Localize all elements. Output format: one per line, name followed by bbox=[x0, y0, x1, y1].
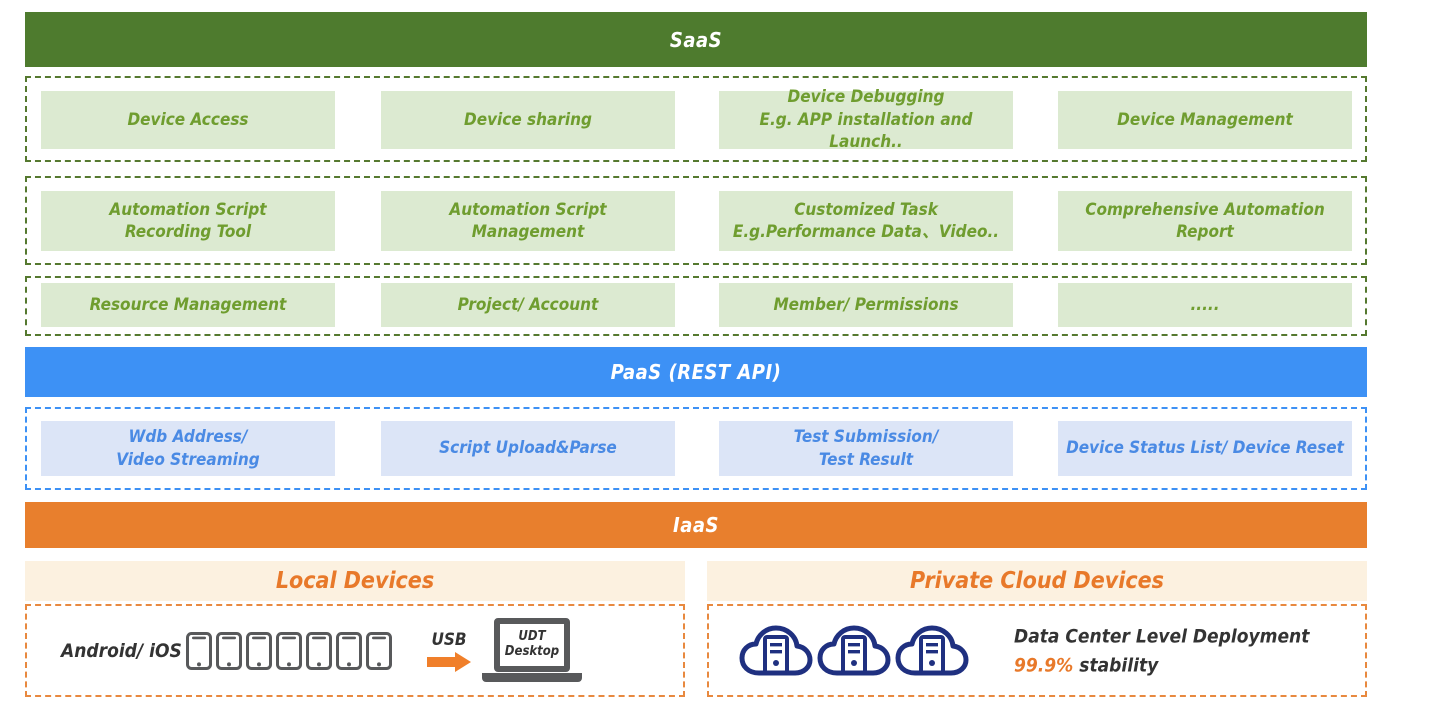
cell-label: Script Upload&Parse bbox=[439, 437, 617, 459]
saas-cell-project-account[interactable]: Project/ Account bbox=[381, 283, 675, 327]
cell-label: ..... bbox=[1190, 294, 1219, 316]
paas-cell-script-upload-parse[interactable]: Script Upload&Parse bbox=[381, 421, 675, 476]
architecture-diagram: SaaS Device Access Device sharing Device… bbox=[0, 0, 1430, 713]
cloud-server-icon-group bbox=[739, 623, 969, 679]
usb-label: USB bbox=[431, 630, 466, 650]
cell-label: Comprehensive AutomationReport bbox=[1085, 199, 1324, 244]
cell-label: Project/ Account bbox=[458, 294, 599, 316]
mobile-phone-icon bbox=[216, 632, 242, 670]
saas-cell-device-management[interactable]: Device Management bbox=[1058, 91, 1352, 149]
cell-label: Device Management bbox=[1117, 109, 1293, 131]
panel-title-label: Local Devices bbox=[276, 568, 434, 594]
saas-row-1-group: Device Access Device sharing Device Debu… bbox=[25, 76, 1367, 162]
cloud-server-icon bbox=[895, 623, 969, 679]
paas-cell-wdb-address-video-streaming[interactable]: Wdb Address/Video Streaming bbox=[41, 421, 335, 476]
band-saas-label: SaaS bbox=[670, 28, 722, 52]
band-iaas-label: IaaS bbox=[673, 513, 719, 537]
saas-cell-script-recording-tool[interactable]: Automation ScriptRecording Tool bbox=[41, 191, 335, 251]
laptop-screen: UDT Desktop bbox=[494, 618, 570, 672]
paas-cell-device-status-reset[interactable]: Device Status List/ Device Reset bbox=[1058, 421, 1352, 476]
saas-cell-member-permissions[interactable]: Member/ Permissions bbox=[719, 283, 1013, 327]
saas-cell-script-management[interactable]: Automation ScriptManagement bbox=[381, 191, 675, 251]
cell-label: Device DebuggingE.g. APP installation an… bbox=[725, 86, 1007, 153]
stability-line: 99.9% stability bbox=[1014, 654, 1309, 676]
saas-cell-customized-task[interactable]: Customized TaskE.g.Performance Data、Vide… bbox=[719, 191, 1013, 251]
panel-title-local-devices: Local Devices bbox=[25, 561, 685, 601]
panel-title-private-cloud-devices: Private Cloud Devices bbox=[707, 561, 1367, 601]
laptop-label-line2: Desktop bbox=[505, 645, 559, 660]
paas-row-group: Wdb Address/Video Streaming Script Uploa… bbox=[25, 407, 1367, 490]
laptop-base bbox=[482, 673, 582, 682]
saas-cell-device-debugging[interactable]: Device DebuggingE.g. APP installation an… bbox=[719, 91, 1013, 149]
mobile-phone-icon bbox=[336, 632, 362, 670]
panel-local-devices-body: Android/ iOS bbox=[25, 604, 685, 697]
cloud-description: Data Center Level Deployment 99.9% stabi… bbox=[1014, 625, 1309, 676]
mobile-phone-icon bbox=[186, 632, 212, 670]
cell-label: Device Status List/ Device Reset bbox=[1066, 437, 1344, 459]
cell-label: Test Submission/Test Result bbox=[794, 426, 939, 471]
usb-connector: USB bbox=[427, 630, 471, 672]
mobile-phone-icon bbox=[366, 632, 392, 670]
laptop-label-line1: UDT bbox=[518, 630, 545, 645]
cell-label: Automation ScriptRecording Tool bbox=[109, 199, 266, 244]
saas-cell-more[interactable]: ..... bbox=[1058, 283, 1352, 327]
cell-label: Wdb Address/Video Streaming bbox=[116, 426, 260, 471]
cell-label: Customized TaskE.g.Performance Data、Vide… bbox=[733, 199, 999, 244]
panel-private-cloud-body: Data Center Level Deployment 99.9% stabi… bbox=[707, 604, 1367, 697]
mobile-phone-icon bbox=[246, 632, 272, 670]
arrow-right-icon bbox=[427, 652, 471, 672]
phone-icon-group bbox=[186, 632, 392, 670]
cloud-server-icon bbox=[817, 623, 891, 679]
android-ios-label: Android/ iOS bbox=[61, 640, 182, 662]
cell-label: Resource Management bbox=[90, 294, 287, 316]
mobile-phone-icon bbox=[306, 632, 332, 670]
saas-row-2-group: Automation ScriptRecording Tool Automati… bbox=[25, 176, 1367, 265]
paas-cell-test-submission-result[interactable]: Test Submission/Test Result bbox=[719, 421, 1013, 476]
stability-value: 99.9% bbox=[1014, 654, 1073, 676]
band-paas-label: PaaS (REST API) bbox=[611, 360, 782, 384]
cell-label: Automation ScriptManagement bbox=[449, 199, 606, 244]
saas-cell-device-access[interactable]: Device Access bbox=[41, 91, 335, 149]
cell-label: Member/ Permissions bbox=[773, 294, 958, 316]
cell-label: Device Access bbox=[127, 109, 248, 131]
cloud-server-icon bbox=[739, 623, 813, 679]
data-center-deployment-text: Data Center Level Deployment bbox=[1014, 625, 1309, 647]
mobile-phone-icon bbox=[276, 632, 302, 670]
saas-cell-automation-report[interactable]: Comprehensive AutomationReport bbox=[1058, 191, 1352, 251]
saas-cell-resource-management[interactable]: Resource Management bbox=[41, 283, 335, 327]
saas-cell-device-sharing[interactable]: Device sharing bbox=[381, 91, 675, 149]
cell-label: Device sharing bbox=[464, 109, 592, 131]
stability-label: stability bbox=[1079, 654, 1158, 676]
panel-title-label: Private Cloud Devices bbox=[910, 568, 1164, 594]
band-paas: PaaS (REST API) bbox=[25, 347, 1367, 397]
band-saas: SaaS bbox=[25, 12, 1367, 67]
band-iaas: IaaS bbox=[25, 502, 1367, 548]
saas-row-3-group: Resource Management Project/ Account Mem… bbox=[25, 276, 1367, 336]
udt-desktop-laptop: UDT Desktop bbox=[482, 618, 582, 684]
